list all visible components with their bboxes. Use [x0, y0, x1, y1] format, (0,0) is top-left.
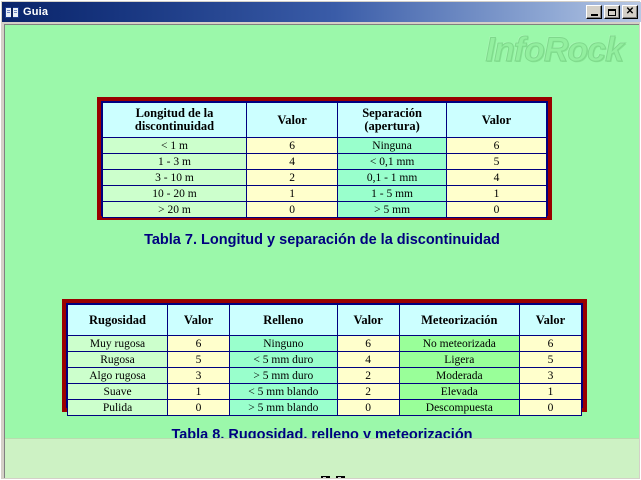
table-cell: Ligera [400, 352, 519, 367]
table-cell: 3 [520, 368, 581, 383]
column-header: Valor [247, 103, 337, 137]
binoculars-icon[interactable] [317, 475, 351, 478]
table-cell: Descompuesta [400, 400, 519, 415]
inforock-watermark: InfoRock [486, 31, 623, 70]
table-cell: 5 [168, 352, 229, 367]
table-row: > 20 m 0 > 5 mm 0 [103, 202, 546, 217]
header-line: Separación [362, 106, 422, 120]
table-cell: 1 - 3 m [103, 154, 246, 169]
table-row: 3 - 10 m 2 0,1 - 1 mm 4 [103, 170, 546, 185]
table-row: 10 - 20 m 1 1 - 5 mm 1 [103, 186, 546, 201]
table-cell: 10 - 20 m [103, 186, 246, 201]
column-header: Meteorización [400, 305, 519, 335]
table-cell: Ninguno [230, 336, 337, 351]
table-cell: 6 [247, 138, 337, 153]
table-cell: < 0,1 mm [338, 154, 446, 169]
table-cell: 4 [447, 170, 546, 185]
table-cell: 1 [520, 384, 581, 399]
column-header: Longitud de la discontinuidad [103, 103, 246, 137]
table-cell: 0 [247, 202, 337, 217]
column-header: Relleno [230, 305, 337, 335]
table-row: Muy rugosa 6 Ninguno 6 No meteorizada 6 [68, 336, 581, 351]
column-header: Valor [338, 305, 399, 335]
footer-bar [5, 438, 639, 478]
table-cell: 0 [520, 400, 581, 415]
table-cell: 4 [338, 352, 399, 367]
table-7: Longitud de la discontinuidad Valor Sepa… [97, 97, 552, 220]
table-cell: < 1 m [103, 138, 246, 153]
table-cell: Rugosa [68, 352, 167, 367]
minimize-icon [591, 14, 598, 16]
table-header-row: Longitud de la discontinuidad Valor Sepa… [103, 103, 546, 137]
column-header: Valor [168, 305, 229, 335]
table-8: Rugosidad Valor Relleno Valor Meteorizac… [62, 299, 587, 412]
table-row: Suave 1 < 5 mm blando 2 Elevada 1 [68, 384, 581, 399]
header-line: Longitud de la [136, 106, 214, 120]
table-row: 1 - 3 m 4 < 0,1 mm 5 [103, 154, 546, 169]
table-cell: 0,1 - 1 mm [338, 170, 446, 185]
close-button[interactable]: ✕ [622, 5, 638, 19]
table-cell: 6 [520, 336, 581, 351]
column-header: Rugosidad [68, 305, 167, 335]
table-cell: > 5 mm blando [230, 400, 337, 415]
table-cell: < 5 mm duro [230, 352, 337, 367]
table-cell: Suave [68, 384, 167, 399]
maximize-button[interactable] [604, 5, 620, 19]
table-8-grid: Rugosidad Valor Relleno Valor Meteorizac… [67, 304, 582, 416]
close-icon: ✕ [626, 7, 634, 17]
table-cell: 2 [338, 368, 399, 383]
table-cell: < 5 mm blando [230, 384, 337, 399]
table-cell: 0 [447, 202, 546, 217]
window-controls: ✕ [586, 5, 638, 19]
table-cell: 1 - 5 mm [338, 186, 446, 201]
table-cell: > 5 mm duro [230, 368, 337, 383]
table-cell: 5 [520, 352, 581, 367]
title-bar[interactable]: Guia ✕ [2, 2, 641, 22]
table-cell: Elevada [400, 384, 519, 399]
table-cell: 0 [168, 400, 229, 415]
table-cell: Algo rugosa [68, 368, 167, 383]
table-cell: Ninguna [338, 138, 446, 153]
window-title: Guia [23, 6, 48, 18]
table-cell: 5 [447, 154, 546, 169]
page-number-label: Página 15 [23, 477, 77, 478]
table-cell: 6 [338, 336, 399, 351]
table-cell: 1 [168, 384, 229, 399]
column-header: Separación (apertura) [338, 103, 446, 137]
table-cell: No meteorizada [400, 336, 519, 351]
table-cell: Moderada [400, 368, 519, 383]
table-header-row: Rugosidad Valor Relleno Valor Meteorizac… [68, 305, 581, 335]
table-cell: > 5 mm [338, 202, 446, 217]
table-cell: 3 [168, 368, 229, 383]
minimize-button[interactable] [586, 5, 602, 19]
application-window: Guia ✕ InfoRock Longitud de la discontin… [0, 0, 641, 480]
column-header: Valor [447, 103, 546, 137]
table-row: Rugosa 5 < 5 mm duro 4 Ligera 5 [68, 352, 581, 367]
table-cell: 1 [447, 186, 546, 201]
table-7-grid: Longitud de la discontinuidad Valor Sepa… [102, 102, 547, 218]
table-cell: > 20 m [103, 202, 246, 217]
table-row: Pulida 0 > 5 mm blando 0 Descompuesta 0 [68, 400, 581, 415]
header-line: discontinuidad [135, 119, 214, 133]
column-header: Valor [520, 305, 581, 335]
table-cell: Muy rugosa [68, 336, 167, 351]
table-cell: 1 [247, 186, 337, 201]
table-7-caption: Tabla 7. Longitud y separación de la dis… [5, 232, 639, 248]
table-row: < 1 m 6 Ninguna 6 [103, 138, 546, 153]
table-cell: 4 [247, 154, 337, 169]
table-cell: 2 [338, 384, 399, 399]
table-cell: 3 - 10 m [103, 170, 246, 185]
maximize-icon [608, 9, 616, 16]
document-client-area: InfoRock Longitud de la discontinuidad V… [4, 24, 639, 478]
book-icon [5, 6, 19, 19]
table-cell: 6 [447, 138, 546, 153]
table-cell: 6 [168, 336, 229, 351]
table-cell: Pulida [68, 400, 167, 415]
table-cell: 0 [338, 400, 399, 415]
table-row: Algo rugosa 3 > 5 mm duro 2 Moderada 3 [68, 368, 581, 383]
header-line: (apertura) [364, 119, 420, 133]
table-cell: 2 [247, 170, 337, 185]
